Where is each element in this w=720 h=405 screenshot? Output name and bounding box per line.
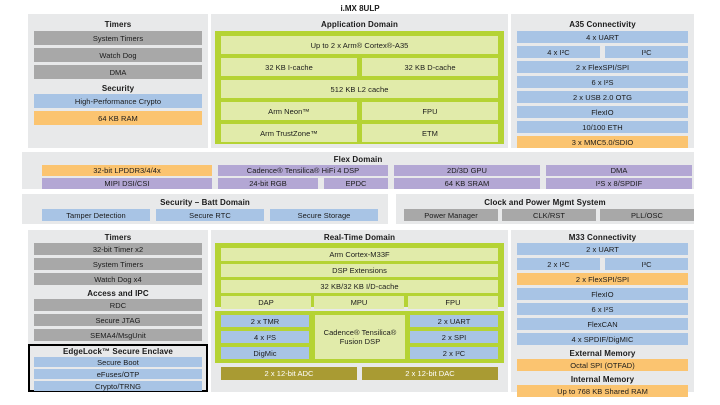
block-rdc[interactable]: RDC: [34, 299, 202, 311]
block-dap[interactable]: DAP: [221, 296, 311, 309]
block-m33-uart[interactable]: 2 x UART: [517, 243, 688, 255]
block-m33-i2c[interactable]: 2 x I²C: [517, 258, 600, 270]
external-memory-header: External Memory: [511, 348, 694, 359]
block-secure-storage[interactable]: Secure Storage: [270, 209, 378, 221]
block-4x-i2s[interactable]: 4 x I²S: [221, 331, 309, 343]
block-high-performance-crypto[interactable]: High-Performance Crypto: [34, 94, 202, 108]
block-arm-neon[interactable]: Arm Neon™: [221, 102, 357, 120]
block-a35-eth[interactable]: 10/100 ETH: [517, 121, 688, 133]
timers-header-top: Timers: [34, 19, 202, 30]
block-fpu-a35[interactable]: FPU: [362, 102, 498, 120]
block-a35-uart[interactable]: 4 x UART: [517, 31, 688, 43]
block-24bit-rgb[interactable]: 24-bit RGB: [218, 178, 318, 189]
block-sema4-msgunit[interactable]: SEMA4/MsgUnit: [34, 329, 202, 341]
block-dac[interactable]: 2 x 12-bit DAC: [362, 367, 498, 380]
block-power-manager[interactable]: Power Manager: [404, 209, 498, 221]
block-i-cache[interactable]: 32 KB I-cache: [221, 58, 357, 76]
block-32bit-timer[interactable]: 32-bit Timer x2: [34, 243, 202, 255]
block-octal-spi[interactable]: Octal SPI (OTFAD): [517, 359, 688, 371]
block-d-cache[interactable]: 32 KB D-cache: [362, 58, 498, 76]
block-cortex-m33f[interactable]: Arm Cortex-M33F: [221, 248, 498, 261]
security-batt-header: Security – Batt Domain: [22, 197, 388, 208]
security-header-top: Security: [34, 83, 202, 94]
block-m33rt-i2c[interactable]: 2 x I²C: [410, 347, 498, 359]
block-a35-mmc-sdio[interactable]: 3 x MMC5.0/SDIO: [517, 136, 688, 148]
block-a35-i2s[interactable]: 6 x I²S: [517, 76, 688, 88]
a35-connectivity-header: A35 Connectivity: [511, 19, 694, 30]
block-l2-cache[interactable]: 512 KB L2 cache: [221, 80, 498, 98]
block-a35-i3c[interactable]: I³C: [605, 46, 688, 58]
block-adc[interactable]: 2 x 12-bit ADC: [221, 367, 357, 380]
block-m33-i2s[interactable]: 6 x I²S: [517, 303, 688, 315]
block-efuses-otp[interactable]: eFuses/OTP: [34, 369, 202, 379]
block-cortex-a35[interactable]: Up to 2 x Arm® Cortex®-A35: [221, 36, 498, 54]
block-tamper-detection[interactable]: Tamper Detection: [42, 209, 150, 221]
block-arm-trustzone[interactable]: Arm TrustZone™: [221, 124, 357, 142]
block-m33-flexcan[interactable]: FlexCAN: [517, 318, 688, 330]
block-64kb-ram[interactable]: 64 KB RAM: [34, 111, 202, 125]
m33-connectivity-header: M33 Connectivity: [511, 232, 694, 243]
realtime-domain-header: Real-Time Domain: [211, 232, 508, 243]
application-domain-header: Application Domain: [211, 19, 508, 30]
block-digmic[interactable]: DigMic: [221, 347, 309, 359]
block-flex-dma[interactable]: DMA: [546, 165, 692, 176]
block-m33-spdif-digmic[interactable]: 4 x SPDIF/DigMIC: [517, 333, 688, 345]
block-a35-i2c[interactable]: 4 x I²C: [517, 46, 600, 58]
fusion-dsp-line2: Fusion DSP: [340, 337, 381, 346]
block-a35-usb[interactable]: 2 x USB 2.0 OTG: [517, 91, 688, 103]
block-watch-dog-x4[interactable]: Watch Dog x4: [34, 273, 202, 285]
block-2x-tmr[interactable]: 2 x TMR: [221, 315, 309, 327]
block-i2s-spdif[interactable]: I²S x 8/SPDIF: [546, 178, 692, 189]
block-m33rt-uart[interactable]: 2 x UART: [410, 315, 498, 327]
block-lpddr[interactable]: 32-bit LPDDR3/4/4x: [42, 165, 212, 176]
block-m33-flexspi[interactable]: 2 x FlexSPI/SPI: [517, 273, 688, 285]
block-secure-rtc[interactable]: Secure RTC: [156, 209, 264, 221]
page-title: i.MX 8ULP: [210, 4, 510, 13]
block-hifi4-dsp[interactable]: Cadence® Tensilica® HiFi 4 DSP: [218, 165, 388, 176]
internal-memory-header: Internal Memory: [511, 374, 694, 385]
block-pll-osc[interactable]: PLL/OSC: [600, 209, 694, 221]
diagram-canvas: i.MX 8ULP Timers System Timers Watch Dog…: [0, 0, 720, 405]
clock-power-header: Clock and Power Mgmt System: [396, 197, 694, 208]
block-epdc[interactable]: EPDC: [324, 178, 388, 189]
block-system-timers[interactable]: System Timers: [34, 31, 202, 45]
block-clk-rst[interactable]: CLK/RST: [502, 209, 596, 221]
block-m33rt-spi[interactable]: 2 x SPI: [410, 331, 498, 343]
block-a35-flexio[interactable]: FlexIO: [517, 106, 688, 118]
flex-domain-header: Flex Domain: [22, 154, 694, 165]
block-system-timers-rt[interactable]: System Timers: [34, 258, 202, 270]
access-ipc-header: Access and IPC: [34, 288, 202, 299]
block-watch-dog[interactable]: Watch Dog: [34, 48, 202, 62]
block-mpu[interactable]: MPU: [314, 296, 404, 309]
block-64kb-sram[interactable]: 64 KB SRAM: [394, 178, 540, 189]
block-m33-flexio[interactable]: FlexIO: [517, 288, 688, 300]
timers-header-bottom: Timers: [34, 232, 202, 243]
block-fpu-m33[interactable]: FPU: [408, 296, 498, 309]
block-fusion-dsp[interactable]: Cadence® Tensilica® Fusion DSP: [315, 315, 405, 359]
block-dma-timers[interactable]: DMA: [34, 65, 202, 79]
block-gpu[interactable]: 2D/3D GPU: [394, 165, 540, 176]
block-m33-i3c[interactable]: I³C: [605, 258, 688, 270]
block-m33-cache[interactable]: 32 KB/32 KB I/D-cache: [221, 280, 498, 293]
block-secure-boot[interactable]: Secure Boot: [34, 357, 202, 367]
block-secure-jtag[interactable]: Secure JTAG: [34, 314, 202, 326]
block-shared-ram[interactable]: Up to 768 KB Shared RAM: [517, 385, 688, 397]
block-crypto-trng[interactable]: Crypto/TRNG: [34, 381, 202, 391]
fusion-dsp-line1: Cadence® Tensilica®: [324, 328, 397, 337]
block-dsp-extensions[interactable]: DSP Extensions: [221, 264, 498, 277]
edgelock-header: EdgeLock™ Secure Enclave: [32, 346, 204, 357]
block-mipi-dsi-csi[interactable]: MIPI DSI/CSI: [42, 178, 212, 189]
block-etm[interactable]: ETM: [362, 124, 498, 142]
block-a35-flexspi[interactable]: 2 x FlexSPI/SPI: [517, 61, 688, 73]
